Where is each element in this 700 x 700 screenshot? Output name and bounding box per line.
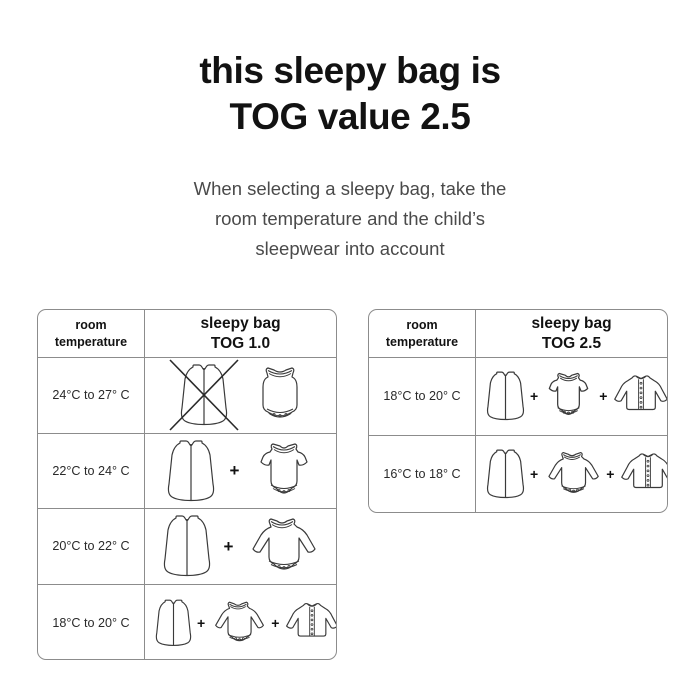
- table-row: 22°C to 24° C +: [38, 434, 336, 510]
- temperature-value: 18°C to 20° C: [383, 389, 460, 403]
- page-subtitle: When selecting a sleepy bag, take the ro…: [0, 174, 700, 264]
- cardigan-icon: [282, 599, 337, 647]
- sleepy-bag-crossed-out-icon: [177, 363, 231, 427]
- page-subtitle-line-1: When selecting a sleepy bag, take the: [0, 174, 700, 204]
- temperature-value: 20°C to 22° C: [52, 539, 129, 553]
- header-room-label: room: [386, 317, 458, 334]
- tog-2-5-table: room temperature sleepy bag TOG 2.5 18°C…: [368, 309, 668, 513]
- table-row: 20°C to 22° C +: [38, 509, 336, 585]
- cell-temperature: 16°C to 18° C: [369, 436, 476, 514]
- temperature-value: 22°C to 24° C: [52, 464, 129, 478]
- tog-1-0-table: room temperature sleepy bag TOG 1.0 24°C…: [37, 309, 337, 660]
- header-room-label: room: [55, 317, 127, 334]
- header-tog-value-label: TOG 2.5: [531, 334, 611, 354]
- table-header-row: room temperature sleepy bag TOG 2.5: [369, 310, 667, 358]
- sleepy-bag-icon: [484, 447, 527, 501]
- plus-icon: +: [222, 538, 236, 555]
- sleepy-bag-icon: [153, 597, 194, 649]
- header-cell-room-temperature: room temperature: [369, 310, 476, 357]
- header-temperature-label: temperature: [55, 334, 127, 351]
- header-temperature-label: temperature: [386, 334, 458, 351]
- table-row: 18°C to 20° C +: [369, 358, 667, 436]
- cell-garments: + +: [476, 436, 668, 514]
- temperature-value: 16°C to 18° C: [383, 467, 460, 481]
- cardigan-icon: [610, 371, 668, 421]
- sleepy-bag-icon: [164, 439, 218, 503]
- bodysuit-short-sleeve-icon: [251, 441, 317, 501]
- cell-garments: + +: [476, 358, 668, 435]
- header-cell-sleepy-bag: sleepy bag TOG 2.5: [476, 310, 667, 357]
- cell-garments: +: [145, 434, 336, 509]
- cell-temperature: 22°C to 24° C: [38, 434, 145, 509]
- cell-garments: +: [145, 509, 336, 584]
- cell-garments: [145, 358, 336, 433]
- plus-icon: +: [528, 467, 540, 481]
- plus-icon: +: [195, 616, 207, 630]
- cell-temperature: 24°C to 27° C: [38, 358, 145, 433]
- plus-icon: +: [269, 616, 281, 630]
- temperature-value: 24°C to 27° C: [52, 388, 129, 402]
- header-cell-sleepy-bag: sleepy bag TOG 1.0: [145, 310, 336, 357]
- table-row: 16°C to 18° C +: [369, 436, 667, 514]
- header-tog-value-label: TOG 1.0: [200, 334, 280, 354]
- plus-icon: +: [528, 389, 540, 403]
- sleepy-bag-icon: [160, 514, 214, 578]
- plus-icon: +: [597, 389, 609, 403]
- temperature-value: 18°C to 20° C: [52, 616, 129, 630]
- header-cell-room-temperature: room temperature: [38, 310, 145, 357]
- cell-temperature: 18°C to 20° C: [38, 585, 145, 660]
- plus-icon: +: [228, 462, 242, 479]
- page-title-line-1: this sleepy bag is: [0, 48, 700, 94]
- bodysuit-long-sleeve-icon: [541, 448, 603, 500]
- page-subtitle-line-2: room temperature and the child’s: [0, 204, 700, 234]
- plus-icon: +: [604, 467, 616, 481]
- cell-temperature: 18°C to 20° C: [369, 358, 476, 435]
- table-row: 18°C to 20° C +: [38, 585, 336, 660]
- sleepy-bag-icon: [484, 369, 527, 423]
- table-row: 24°C to 27° C: [38, 358, 336, 434]
- page-title-line-2: TOG value 2.5: [0, 94, 700, 140]
- bodysuit-sleeveless-icon: [255, 365, 305, 425]
- bodysuit-long-sleeve-icon: [243, 515, 321, 577]
- cell-temperature: 20°C to 22° C: [38, 509, 145, 584]
- table-header-row: room temperature sleepy bag TOG 1.0: [38, 310, 336, 358]
- page-subtitle-line-3: sleepwear into account: [0, 234, 700, 264]
- cell-garments: + +: [145, 585, 337, 660]
- bodysuit-long-sleeve-icon: [208, 598, 268, 648]
- header-sleepy-bag-label: sleepy bag: [200, 314, 280, 334]
- header-sleepy-bag-label: sleepy bag: [531, 314, 611, 334]
- cardigan-icon: [617, 449, 668, 499]
- bodysuit-short-sleeve-icon: [541, 370, 596, 422]
- page-title: this sleepy bag is TOG value 2.5: [0, 48, 700, 141]
